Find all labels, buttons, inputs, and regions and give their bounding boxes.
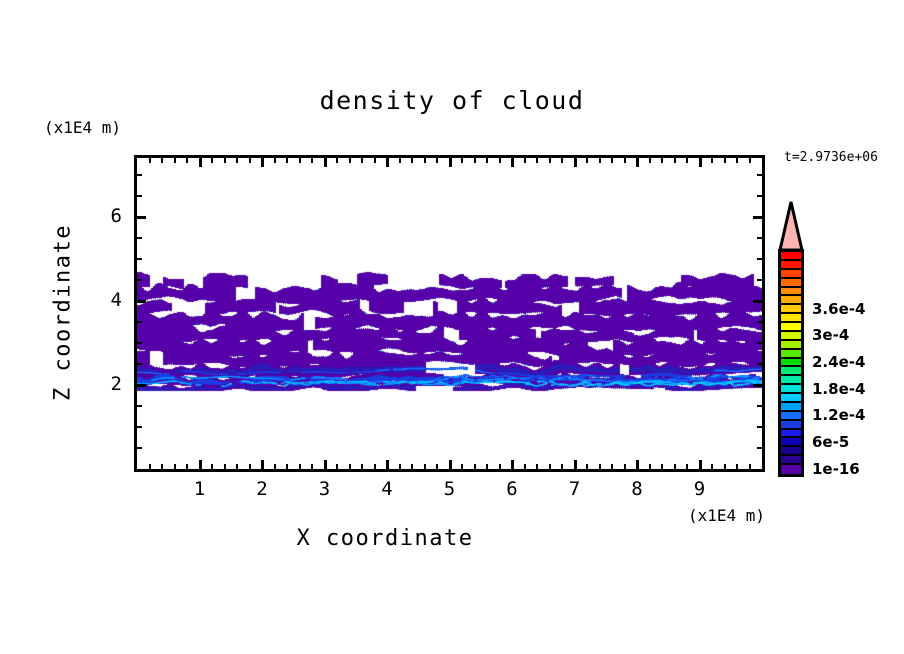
x-minor-tick	[686, 158, 688, 163]
x-minor-tick	[311, 464, 313, 469]
x-minor-tick	[224, 158, 226, 163]
x-minor-tick	[286, 464, 288, 469]
figure-root: density of cloud (x1E4 m) t=2.9736e+06 (…	[0, 0, 904, 654]
y-minor-tick	[137, 447, 142, 449]
x-minor-tick	[349, 158, 351, 163]
y-minor-tick	[137, 174, 142, 176]
x-minor-tick	[649, 464, 651, 469]
x-tick-label: 5	[430, 478, 470, 500]
x-minor-tick	[174, 158, 176, 163]
x-minor-tick	[436, 464, 438, 469]
x-axis-unit-label: (x1E4 m)	[688, 506, 765, 525]
x-major-tick	[574, 460, 577, 469]
colorbar-band	[781, 465, 801, 474]
x-minor-tick	[411, 464, 413, 469]
y-minor-tick	[137, 237, 142, 239]
x-minor-tick	[374, 158, 376, 163]
colorbar-band	[781, 385, 801, 394]
x-minor-tick	[549, 158, 551, 163]
x-minor-tick	[586, 464, 588, 469]
y-major-tick	[137, 384, 146, 387]
x-major-tick	[199, 158, 202, 167]
x-minor-tick	[211, 464, 213, 469]
y-minor-tick	[137, 405, 142, 407]
x-minor-tick	[149, 464, 151, 469]
x-axis-title: X coordinate	[0, 526, 770, 551]
x-minor-tick	[174, 464, 176, 469]
x-minor-tick	[749, 158, 751, 163]
x-minor-tick	[149, 158, 151, 163]
colorbar-band	[781, 270, 801, 279]
y-minor-tick	[757, 426, 762, 428]
x-minor-tick	[536, 464, 538, 469]
colorbar-arrow-icon	[778, 200, 804, 252]
chart-title: density of cloud	[0, 86, 904, 115]
x-minor-tick	[249, 464, 251, 469]
x-minor-tick	[299, 464, 301, 469]
x-minor-tick	[186, 158, 188, 163]
y-major-tick	[753, 384, 762, 387]
y-minor-tick	[137, 342, 142, 344]
x-minor-tick	[686, 464, 688, 469]
x-minor-tick	[461, 464, 463, 469]
x-minor-tick	[436, 158, 438, 163]
x-tick-label: 8	[617, 478, 657, 500]
y-minor-tick	[137, 279, 142, 281]
y-minor-tick	[757, 237, 762, 239]
x-minor-tick	[711, 464, 713, 469]
colorbar-tick-label: 1.8e-4	[812, 380, 865, 398]
x-minor-tick	[236, 158, 238, 163]
y-tick-label: 2	[96, 373, 122, 395]
colorbar-band	[781, 421, 801, 430]
x-major-tick	[386, 158, 389, 167]
colorbar-tick-label: 2.4e-4	[812, 353, 865, 371]
x-major-tick	[636, 460, 639, 469]
colorbar-band	[781, 296, 801, 305]
y-minor-tick	[757, 258, 762, 260]
x-minor-tick	[349, 464, 351, 469]
colorbar-band	[781, 341, 801, 350]
x-minor-tick	[499, 464, 501, 469]
x-major-tick	[261, 460, 264, 469]
y-major-tick	[753, 216, 762, 219]
x-minor-tick	[211, 158, 213, 163]
x-tick-label: 7	[555, 478, 595, 500]
colorbar-band	[781, 332, 801, 341]
x-minor-tick	[624, 464, 626, 469]
x-minor-tick	[236, 464, 238, 469]
y-minor-tick	[137, 321, 142, 323]
colorbar-band	[781, 314, 801, 323]
x-minor-tick	[311, 158, 313, 163]
x-minor-tick	[336, 464, 338, 469]
x-minor-tick	[274, 158, 276, 163]
x-minor-tick	[611, 464, 613, 469]
x-minor-tick	[499, 158, 501, 163]
x-minor-tick	[399, 158, 401, 163]
x-minor-tick	[536, 158, 538, 163]
y-axis-title: Z coordinate	[51, 203, 76, 423]
contour-field	[137, 158, 762, 469]
colorbar-band	[781, 403, 801, 412]
x-minor-tick	[424, 464, 426, 469]
colorbar-band	[781, 323, 801, 332]
x-minor-tick	[749, 464, 751, 469]
colorbar-tick-label: 1e-16	[812, 460, 860, 478]
plot-area	[134, 155, 765, 472]
y-minor-tick	[757, 321, 762, 323]
x-minor-tick	[399, 464, 401, 469]
colorbar-band	[781, 447, 801, 456]
x-minor-tick	[461, 158, 463, 163]
x-major-tick	[699, 460, 702, 469]
y-minor-tick	[137, 426, 142, 428]
y-tick-label: 4	[96, 289, 122, 311]
y-minor-tick	[757, 342, 762, 344]
y-minor-tick	[137, 363, 142, 365]
x-minor-tick	[524, 158, 526, 163]
x-minor-tick	[424, 158, 426, 163]
x-major-tick	[449, 158, 452, 167]
x-major-tick	[324, 460, 327, 469]
y-minor-tick	[757, 174, 762, 176]
x-minor-tick	[299, 158, 301, 163]
x-tick-label: 1	[180, 478, 220, 500]
x-minor-tick	[336, 158, 338, 163]
x-minor-tick	[711, 158, 713, 163]
x-minor-tick	[674, 464, 676, 469]
x-minor-tick	[524, 464, 526, 469]
x-minor-tick	[586, 158, 588, 163]
colorbar-band	[781, 412, 801, 421]
colorbar-band	[781, 394, 801, 403]
x-minor-tick	[361, 158, 363, 163]
y-minor-tick	[137, 195, 142, 197]
x-minor-tick	[161, 158, 163, 163]
x-minor-tick	[474, 464, 476, 469]
time-annotation: t=2.9736e+06	[784, 150, 878, 165]
x-major-tick	[574, 158, 577, 167]
colorbar-band	[781, 367, 801, 376]
colorbar-band	[781, 279, 801, 288]
x-minor-tick	[661, 158, 663, 163]
x-tick-label: 6	[492, 478, 532, 500]
x-major-tick	[386, 460, 389, 469]
x-minor-tick	[736, 464, 738, 469]
y-minor-tick	[757, 279, 762, 281]
colorbar-band	[781, 359, 801, 368]
y-major-tick	[753, 300, 762, 303]
y-minor-tick	[757, 363, 762, 365]
colorbar-band	[781, 350, 801, 359]
x-tick-label: 2	[242, 478, 282, 500]
colorbar-band	[781, 438, 801, 447]
x-minor-tick	[274, 464, 276, 469]
y-minor-tick	[757, 405, 762, 407]
x-minor-tick	[724, 158, 726, 163]
x-minor-tick	[736, 158, 738, 163]
colorbar-tick-label: 6e-5	[812, 433, 849, 451]
x-tick-label: 3	[305, 478, 345, 500]
x-minor-tick	[599, 158, 601, 163]
x-tick-label: 9	[680, 478, 720, 500]
y-major-tick	[137, 300, 146, 303]
x-major-tick	[511, 158, 514, 167]
x-minor-tick	[561, 464, 563, 469]
y-minor-tick	[137, 258, 142, 260]
x-major-tick	[449, 460, 452, 469]
x-minor-tick	[561, 158, 563, 163]
y-minor-tick	[757, 195, 762, 197]
colorbar-band	[781, 376, 801, 385]
x-minor-tick	[249, 158, 251, 163]
y-major-tick	[137, 216, 146, 219]
x-major-tick	[261, 158, 264, 167]
x-minor-tick	[361, 464, 363, 469]
x-major-tick	[511, 460, 514, 469]
colorbar-band	[781, 252, 801, 261]
x-minor-tick	[674, 158, 676, 163]
y-tick-label: 6	[96, 205, 122, 227]
x-minor-tick	[599, 464, 601, 469]
x-minor-tick	[161, 464, 163, 469]
x-minor-tick	[224, 464, 226, 469]
x-minor-tick	[374, 464, 376, 469]
x-minor-tick	[624, 158, 626, 163]
x-minor-tick	[486, 464, 488, 469]
colorbar	[778, 249, 804, 477]
x-tick-label: 4	[367, 478, 407, 500]
x-minor-tick	[411, 158, 413, 163]
x-major-tick	[699, 158, 702, 167]
colorbar-band	[781, 288, 801, 297]
x-minor-tick	[724, 464, 726, 469]
x-minor-tick	[186, 464, 188, 469]
colorbar-band	[781, 305, 801, 314]
colorbar-band	[781, 261, 801, 270]
x-minor-tick	[649, 158, 651, 163]
x-minor-tick	[611, 158, 613, 163]
y-minor-tick	[757, 447, 762, 449]
x-minor-tick	[661, 464, 663, 469]
x-minor-tick	[549, 464, 551, 469]
x-minor-tick	[474, 158, 476, 163]
y-axis-unit-label: (x1E4 m)	[44, 118, 121, 137]
colorbar-tick-label: 3e-4	[812, 326, 849, 344]
colorbar-tick-label: 3.6e-4	[812, 300, 865, 318]
x-major-tick	[636, 158, 639, 167]
x-major-tick	[324, 158, 327, 167]
x-minor-tick	[486, 158, 488, 163]
contour-canvas-wrap	[137, 158, 762, 469]
x-major-tick	[199, 460, 202, 469]
x-minor-tick	[286, 158, 288, 163]
colorbar-band	[781, 456, 801, 465]
colorbar-band	[781, 430, 801, 439]
colorbar-tick-label: 1.2e-4	[812, 406, 865, 424]
